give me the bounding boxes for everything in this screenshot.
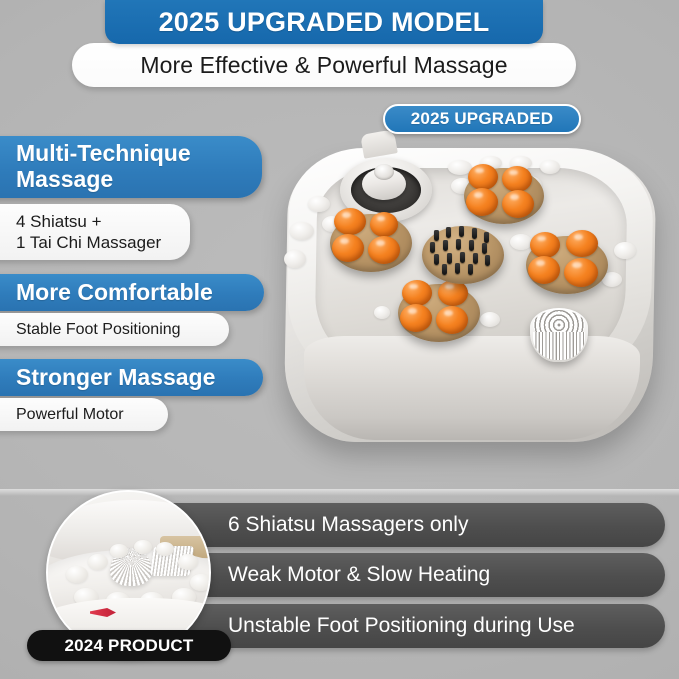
rim-bump: [614, 242, 636, 259]
massage-ball: [436, 306, 468, 334]
feature-detail-pill-3: Powerful Motor: [0, 398, 168, 431]
infographic-canvas: 2025 UPGRADED MODEL More Effective & Pow…: [0, 0, 679, 679]
feature-detail-3: Powerful Motor: [0, 405, 124, 425]
shiatsu-massager-disc: [526, 236, 608, 294]
feature-title-2: More Comfortable: [0, 280, 213, 306]
massage-ball: [334, 208, 366, 235]
tai-chi-pin: [469, 240, 474, 251]
tai-chi-pin: [455, 263, 460, 274]
page-subtitle: More Effective & Powerful Massage: [140, 52, 507, 79]
tai-chi-pin: [460, 252, 465, 263]
massage-ball: [566, 230, 598, 257]
massage-ball: [466, 188, 498, 216]
feature-title-1-line1: Multi-Technique: [16, 141, 191, 167]
2024-nub: [190, 574, 211, 591]
tai-chi-pin: [485, 255, 490, 266]
massage-ball: [502, 190, 534, 218]
feature-detail-pill-1: 4 Shiatsu + 1 Tai Chi Massager: [0, 204, 190, 260]
feature-title-1: 4 Shiatsu + Multi-Technique Massage: [0, 141, 191, 193]
tub-front-lip: [304, 336, 640, 440]
2024-basin-photo: [48, 492, 209, 653]
feature-title-3: Stronger Massage: [0, 365, 215, 391]
feature-detail-pill-2: Stable Foot Positioning: [0, 313, 229, 346]
rim-bump: [284, 250, 306, 268]
feature-title-pill-1: 4 Shiatsu + Multi-Technique Massage: [0, 136, 262, 198]
massage-ball: [564, 258, 598, 287]
tai-chi-pin: [456, 239, 461, 250]
rim-bump: [510, 234, 532, 250]
tai-chi-pin: [442, 264, 447, 275]
tai-chi-massager-disc: [422, 226, 504, 284]
massage-ball: [368, 236, 400, 264]
2024-nub: [66, 566, 88, 583]
2024-nub: [110, 544, 128, 558]
rim-bump: [308, 196, 330, 212]
tai-chi-pin: [473, 253, 478, 264]
tai-chi-pin: [468, 264, 473, 275]
tai-chi-pin: [447, 253, 452, 264]
rim-bump: [374, 306, 390, 319]
tai-chi-pin: [430, 242, 435, 253]
shiatsu-massager-disc: [330, 214, 412, 272]
massage-ball: [370, 212, 398, 237]
massage-ball: [468, 164, 498, 190]
tai-chi-pin: [482, 243, 487, 254]
rim-bump: [290, 222, 314, 240]
feature-detail-2: Stable Foot Positioning: [0, 320, 181, 340]
tai-chi-pin: [459, 226, 464, 237]
feature-title-1-line2: Massage: [16, 167, 191, 193]
feature-title-pill-2: More Comfortable: [0, 274, 264, 311]
header-title-banner: 2025 UPGRADED MODEL: [105, 0, 543, 44]
rim-bump: [540, 160, 560, 174]
badge-2024-label: 2024 PRODUCT: [65, 636, 194, 656]
massage-ball: [400, 304, 432, 332]
header-subtitle-banner: More Effective & Powerful Massage: [72, 43, 576, 87]
feature-detail-1-line1: 4 Shiatsu +: [16, 211, 161, 232]
massage-ball: [332, 234, 364, 262]
2024-nub: [88, 554, 108, 570]
2024-nub: [134, 540, 152, 554]
massage-ball: [502, 166, 532, 192]
shiatsu-massager-disc: [464, 168, 544, 224]
massage-ball: [402, 280, 432, 306]
feature-title-pill-3: Stronger Massage: [0, 359, 263, 396]
badge-2025-upgraded: 2025 UPGRADED: [383, 104, 581, 134]
tai-chi-pin: [446, 227, 451, 238]
badge-2024-product: 2024 PRODUCT: [27, 630, 231, 661]
drain-nub: [374, 164, 394, 180]
page-title: 2025 UPGRADED MODEL: [159, 7, 490, 38]
tai-chi-pin: [443, 240, 448, 251]
tai-chi-pin: [484, 232, 489, 243]
tai-chi-pin: [434, 254, 439, 265]
feature-detail-1-line2: 1 Tai Chi Massager: [16, 232, 161, 253]
2024-nub: [156, 542, 174, 556]
mesh-roller-side: [533, 332, 585, 360]
massage-ball: [528, 256, 560, 284]
badge-2025-label: 2025 UPGRADED: [411, 109, 553, 129]
mesh-roller: [530, 308, 588, 362]
2024-nub: [178, 554, 198, 570]
rim-bump: [480, 312, 500, 327]
feature-detail-1: 4 Shiatsu + 1 Tai Chi Massager: [0, 211, 161, 254]
massage-ball: [530, 232, 560, 258]
shiatsu-massager-disc: [398, 284, 480, 342]
product-image-2025: [258, 126, 678, 471]
tai-chi-pin: [434, 230, 439, 241]
tai-chi-pin: [472, 228, 477, 239]
